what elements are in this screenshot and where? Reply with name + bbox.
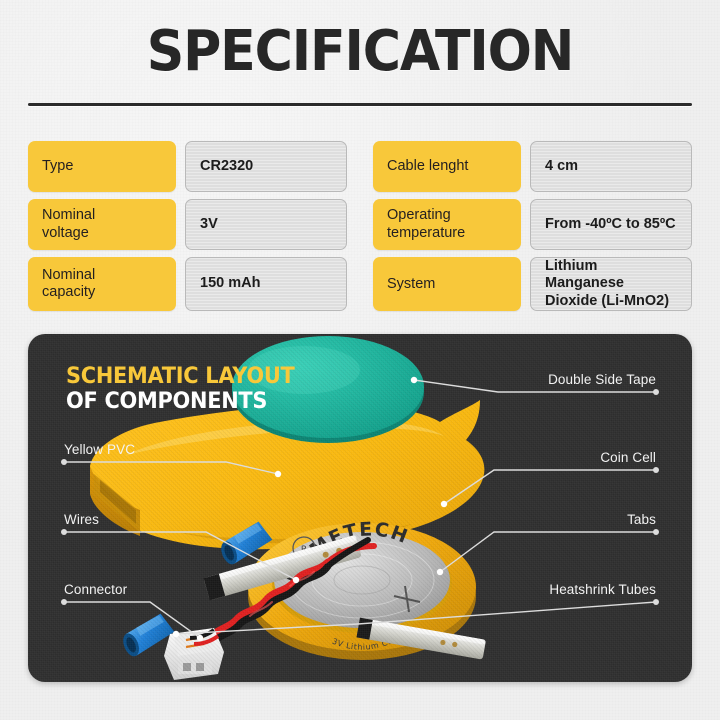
page-title: SPECIFICATION xyxy=(25,24,695,80)
table-row: Nominalcapacity 150 mAh xyxy=(28,257,347,311)
spec-key: Nominalvoltage xyxy=(28,199,176,250)
spec-value: 3V xyxy=(185,199,347,250)
panel-heading: SCHEMATIC LAYOUT OF COMPONENTS xyxy=(66,364,294,414)
spec-key: Cable lenght xyxy=(373,141,521,192)
schematic-panel: ROMETECH 3V Lithium Cell R xyxy=(28,334,692,682)
callout-label-connector: Connector xyxy=(64,582,127,597)
spec-value: 150 mAh xyxy=(185,257,347,311)
spec-value: CR2320 xyxy=(185,141,347,192)
callout-label-heatshrink-tubes: Heatshrink Tubes xyxy=(549,582,656,597)
table-row: System Lithium Manganese Dioxide (Li-MnO… xyxy=(373,257,692,311)
table-row: Operatingtemperature From -40ºC to 85ºC xyxy=(373,199,692,250)
panel-heading-line1: SCHEMATIC LAYOUT xyxy=(66,364,294,389)
spec-key: Type xyxy=(28,141,176,192)
callout-label-tabs: Tabs xyxy=(627,512,656,527)
table-row: Nominalvoltage 3V xyxy=(28,199,347,250)
spec-value: From -40ºC to 85ºC xyxy=(530,199,692,250)
specification-table: Type CR2320 Cable lenght 4 cm Nominalvol… xyxy=(28,141,692,311)
spec-key: System xyxy=(373,257,521,311)
callout-label-wires: Wires xyxy=(64,512,99,527)
table-row: Type CR2320 xyxy=(28,141,347,192)
spec-key: Nominalcapacity xyxy=(28,257,176,311)
spec-value: Lithium Manganese Dioxide (Li-MnO2) xyxy=(530,257,692,311)
table-row: Cable lenght 4 cm xyxy=(373,141,692,192)
spec-key: Operatingtemperature xyxy=(373,199,521,250)
title-divider xyxy=(28,103,692,106)
page-title-wrap: SPECIFICATION xyxy=(0,24,720,80)
callout-label-double-side-tape: Double Side Tape xyxy=(548,372,656,387)
callout-label-coin-cell: Coin Cell xyxy=(600,450,656,465)
callout-label-yellow-pvc: Yellow PVC xyxy=(64,442,135,457)
panel-heading-line2: OF COMPONENTS xyxy=(66,389,294,414)
spec-value: 4 cm xyxy=(530,141,692,192)
